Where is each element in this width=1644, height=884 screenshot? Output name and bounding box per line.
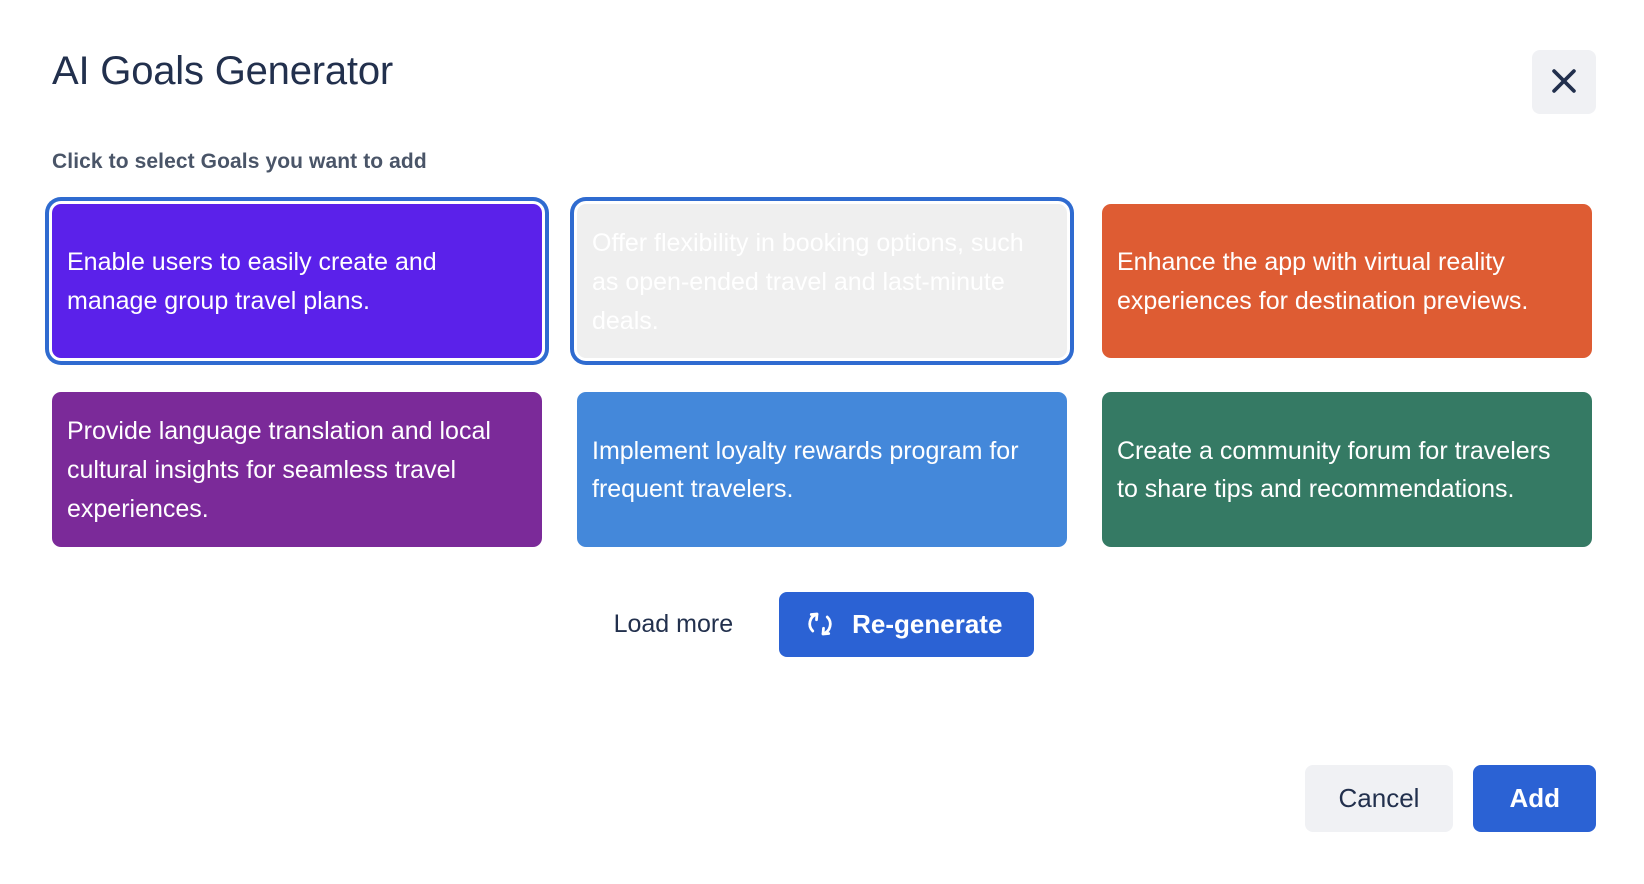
modal-footer: Cancel Add [1305, 765, 1596, 832]
goals-grid: Enable users to easily create and manage… [52, 204, 1592, 547]
refresh-icon [805, 609, 835, 639]
instruction-label: Click to select Goals you want to add [52, 150, 1592, 174]
add-button[interactable]: Add [1473, 765, 1596, 832]
mid-actions: Load more Re-generate [52, 592, 1592, 657]
goal-card-label: Create a community forum for travelers t… [1117, 432, 1578, 510]
ai-goals-generator-modal: AI Goals Generator Click to select Goals… [0, 0, 1644, 884]
goal-card[interactable]: Implement loyalty rewards program for fr… [577, 392, 1067, 546]
close-button[interactable] [1532, 50, 1596, 114]
regenerate-button[interactable]: Re-generate [779, 592, 1034, 657]
goal-card[interactable]: Create a community forum for travelers t… [1102, 392, 1592, 546]
goal-card-label: Provide language translation and local c… [67, 412, 528, 528]
modal-header: AI Goals Generator [0, 0, 1644, 150]
cancel-button[interactable]: Cancel [1305, 765, 1454, 832]
goal-card-label: Implement loyalty rewards program for fr… [592, 432, 1053, 510]
regenerate-label: Re-generate [852, 609, 1002, 640]
page-title: AI Goals Generator [52, 48, 393, 94]
load-more-button[interactable]: Load more [610, 602, 738, 647]
goal-card[interactable]: Offer flexibility in booking options, su… [577, 204, 1067, 358]
close-icon [1547, 64, 1581, 101]
goal-card[interactable]: Enhance the app with virtual reality exp… [1102, 204, 1592, 358]
goal-card[interactable]: Provide language translation and local c… [52, 392, 542, 546]
goal-card-label: Enable users to easily create and manage… [67, 243, 528, 321]
modal-body: Click to select Goals you want to add En… [0, 150, 1644, 657]
goal-card-label: Enhance the app with virtual reality exp… [1117, 243, 1578, 321]
goal-card-label: Offer flexibility in booking options, su… [592, 224, 1053, 340]
goal-card[interactable]: Enable users to easily create and manage… [52, 204, 542, 358]
